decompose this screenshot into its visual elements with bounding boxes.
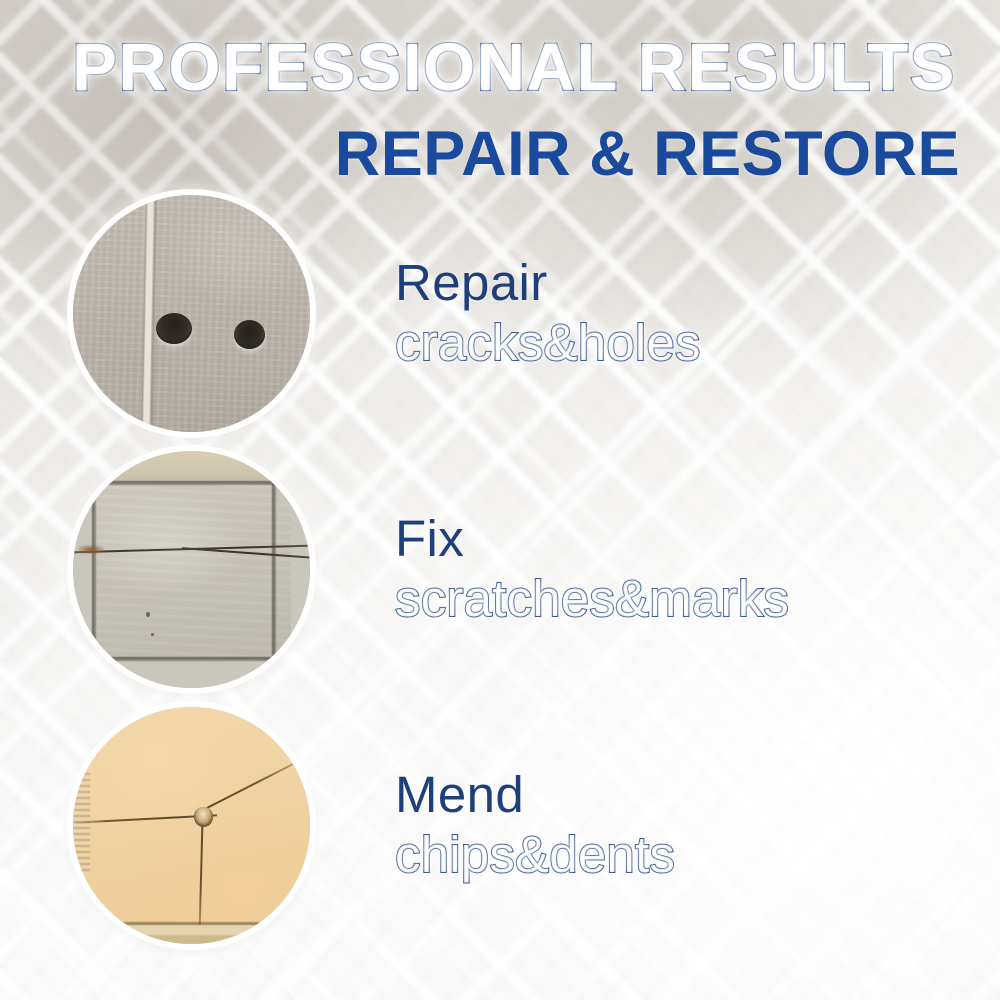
wall-seam (142, 195, 158, 432)
feature-text-2: Fix scratches&marks (395, 513, 995, 624)
feature-item-mend: Mend chips&dents (0, 697, 1000, 953)
wall-chip (194, 807, 213, 827)
grout-line-vertical (92, 451, 96, 688)
wall-crack-diagonal (198, 757, 304, 813)
baseboard-edge (73, 922, 310, 943)
tan-wall-with-chip-and-radiating-cracks-photo (73, 707, 310, 944)
feature-photo-circle-2 (73, 451, 310, 688)
tile-face (92, 484, 291, 659)
grout-line-vertical (272, 451, 276, 688)
headline-block: PROFESSIONAL RESULTS REPAIR & RESTORE (0, 34, 960, 186)
feature-subtitle: scratches&marks (395, 573, 995, 625)
product-feature-poster: PROFESSIONAL RESULTS REPAIR & RESTORE Re… (0, 0, 1000, 1000)
headline-secondary: REPAIR & RESTORE (0, 123, 960, 186)
headline-primary: PROFESSIONAL RESULTS (0, 34, 956, 101)
feature-title: Fix (395, 513, 995, 565)
wall-crack-vertical (198, 816, 203, 939)
drill-hole (156, 313, 192, 344)
feature-photo-circle-1 (73, 195, 310, 432)
feature-title: Repair (395, 257, 995, 309)
rust-stain (78, 545, 104, 554)
feature-list: Repair cracks&holes (0, 185, 1000, 953)
feature-text-3: Mend chips&dents (395, 769, 995, 880)
feature-item-repair: Repair cracks&holes (0, 185, 1000, 441)
feature-item-fix: Fix scratches&marks (0, 441, 1000, 697)
feature-subtitle: chips&dents (395, 829, 995, 881)
feature-text-1: Repair cracks&holes (395, 257, 995, 368)
feature-photo-circle-3 (73, 707, 310, 944)
feature-subtitle: cracks&holes (395, 317, 995, 369)
cracked-tile-with-grout-lines-photo (73, 451, 310, 688)
feature-title: Mend (395, 769, 995, 821)
drill-hole (234, 320, 265, 349)
gray-concrete-wall-with-drill-holes-photo (73, 195, 310, 432)
